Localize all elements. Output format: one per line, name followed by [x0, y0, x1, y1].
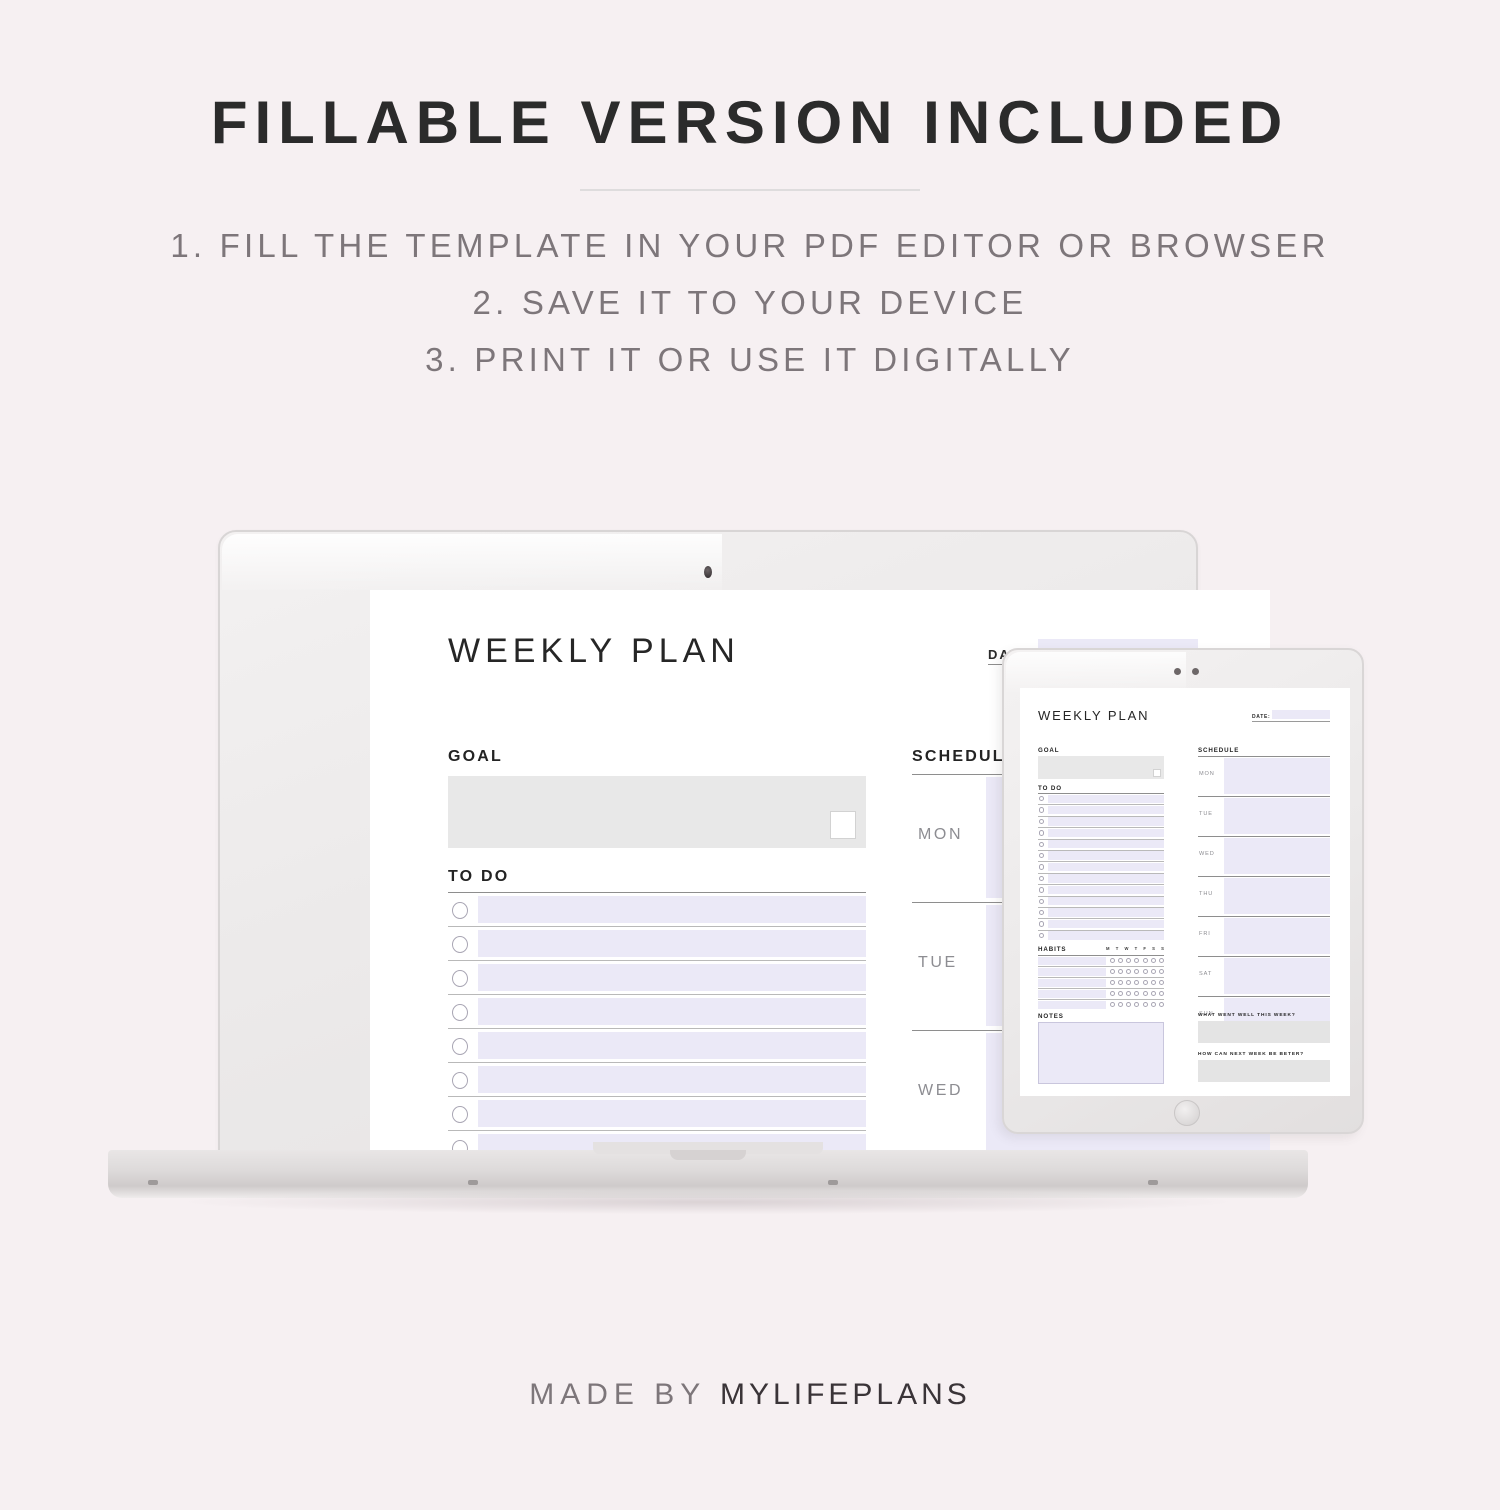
todo-input[interactable] [1048, 806, 1164, 814]
habit-day-w: W [1124, 946, 1128, 951]
todo-input[interactable] [478, 998, 866, 1025]
todo-checkbox-icon[interactable] [1039, 796, 1044, 801]
todo-input[interactable] [1048, 920, 1164, 928]
day-label-wed: WED [918, 1082, 963, 1100]
goal-heading: GOAL [1038, 747, 1059, 754]
habit-row[interactable] [1038, 999, 1164, 1010]
todo-row[interactable] [1038, 850, 1164, 861]
habit-check-icon[interactable] [1159, 958, 1164, 963]
todo-checkbox-icon[interactable] [452, 1038, 468, 1055]
todo-input[interactable] [1048, 931, 1164, 939]
todo-heading: TO DO [1038, 785, 1062, 792]
todo-checkbox-icon[interactable] [1039, 819, 1044, 824]
steps-list: 1. FILL THE TEMPLATE IN YOUR PDF EDITOR … [0, 217, 1500, 388]
habit-check-icon[interactable] [1159, 1002, 1164, 1007]
date-label: DATE: [1252, 714, 1270, 720]
habit-checks[interactable] [1110, 990, 1164, 998]
habit-day-s1: S [1152, 946, 1155, 951]
goal-checkbox[interactable] [830, 811, 856, 839]
todo-rule [448, 1130, 866, 1131]
step-item-2: 2. SAVE IT TO YOUR DEVICE [0, 274, 1500, 331]
goal-heading: GOAL [448, 748, 503, 766]
schedule-input-fri[interactable] [1224, 918, 1330, 954]
todo-list-laptop [448, 892, 866, 1158]
laptop-foot [148, 1180, 158, 1185]
habit-day-m: M [1106, 946, 1110, 951]
schedule-input-tue[interactable] [1224, 798, 1330, 834]
todo-row[interactable] [448, 960, 866, 994]
habit-checks[interactable] [1110, 957, 1164, 965]
todo-input[interactable] [1048, 840, 1164, 848]
todo-input[interactable] [1048, 863, 1164, 871]
habit-checks[interactable] [1110, 968, 1164, 976]
habit-check-icon[interactable] [1126, 969, 1131, 974]
habit-day-s2: S [1161, 946, 1164, 951]
habit-day-headers: M T W T F S S [1106, 946, 1164, 951]
goal-input[interactable] [1038, 756, 1164, 779]
reflection-q2-input[interactable] [1198, 1060, 1330, 1082]
habit-check-icon[interactable] [1134, 980, 1139, 985]
habit-row[interactable] [1038, 955, 1164, 966]
todo-input[interactable] [478, 1066, 866, 1093]
habit-check-icon[interactable] [1143, 991, 1148, 996]
brand-name: MYLIFEPLANS [720, 1378, 971, 1411]
habit-check-icon[interactable] [1126, 1002, 1131, 1007]
tablet-sheen [1006, 652, 1186, 692]
todo-rule [448, 1062, 866, 1063]
todo-row[interactable] [1038, 816, 1164, 827]
camera-icon [1174, 668, 1181, 675]
habit-checks[interactable] [1110, 979, 1164, 987]
habit-check-icon[interactable] [1134, 1002, 1139, 1007]
todo-input[interactable] [1048, 908, 1164, 916]
tablet-mockup: WEEKLY PLAN DATE: GOAL TO DO [1002, 648, 1372, 1143]
todo-input[interactable] [1048, 817, 1164, 825]
todo-heading: TO DO [448, 868, 509, 886]
schedule-rule [1198, 996, 1330, 997]
habit-check-icon[interactable] [1151, 958, 1156, 963]
todo-checkbox-icon[interactable] [452, 902, 468, 919]
habit-checks[interactable] [1110, 1001, 1164, 1009]
habit-check-icon[interactable] [1126, 958, 1131, 963]
todo-input[interactable] [478, 964, 866, 991]
todo-checkbox-icon[interactable] [1039, 876, 1044, 881]
todo-row[interactable] [448, 1096, 866, 1130]
laptop-foot [468, 1180, 478, 1185]
habit-check-icon[interactable] [1126, 991, 1131, 996]
sensor-icon [1192, 668, 1199, 675]
laptop-shadow [188, 1190, 1228, 1214]
habit-check-icon[interactable] [1143, 1002, 1148, 1007]
habit-check-icon[interactable] [1143, 969, 1148, 974]
todo-input[interactable] [1048, 829, 1164, 837]
day-label-fri: FRI [1199, 931, 1211, 937]
schedule-row-fri[interactable]: FRI [1198, 916, 1330, 956]
schedule-input-wed[interactable] [1224, 838, 1330, 874]
todo-row[interactable] [1038, 930, 1164, 941]
day-label-tue: TUE [1199, 811, 1213, 817]
habit-input[interactable] [1038, 979, 1106, 987]
todo-rule [448, 960, 866, 961]
todo-checkbox-icon[interactable] [452, 1106, 468, 1123]
todo-checkbox-icon[interactable] [1039, 899, 1044, 904]
schedule-rule [1198, 796, 1330, 797]
schedule-input-sat[interactable] [1224, 958, 1330, 994]
todo-row[interactable] [448, 994, 866, 1028]
todo-list-tablet [1038, 793, 1164, 941]
day-label-sat: SAT [1199, 971, 1212, 977]
goal-input[interactable] [448, 776, 866, 848]
day-label-mon: MON [1199, 771, 1215, 777]
habit-check-icon[interactable] [1118, 958, 1123, 963]
todo-checkbox-icon[interactable] [1039, 853, 1044, 858]
date-input[interactable] [1272, 710, 1330, 719]
todo-row[interactable] [448, 926, 866, 960]
todo-input[interactable] [478, 1100, 866, 1127]
habit-check-icon[interactable] [1126, 980, 1131, 985]
todo-input[interactable] [478, 1032, 866, 1059]
habit-check-icon[interactable] [1159, 991, 1164, 996]
habit-check-icon[interactable] [1134, 958, 1139, 963]
todo-row[interactable] [448, 1028, 866, 1062]
schedule-rule [1198, 836, 1330, 837]
habit-check-icon[interactable] [1118, 969, 1123, 974]
habit-check-icon[interactable] [1118, 991, 1123, 996]
laptop-foot [1148, 1180, 1158, 1185]
day-label-tue: TUE [918, 954, 958, 972]
todo-checkbox-icon[interactable] [1039, 887, 1044, 892]
todo-row[interactable] [1038, 884, 1164, 895]
habit-check-icon[interactable] [1118, 1002, 1123, 1007]
schedule-row-sat[interactable]: SAT [1198, 956, 1330, 996]
todo-input[interactable] [478, 896, 866, 923]
habit-check-icon[interactable] [1159, 969, 1164, 974]
habit-check-icon[interactable] [1118, 980, 1123, 985]
habit-input[interactable] [1038, 990, 1106, 998]
day-label-thu: THU [1199, 891, 1213, 897]
todo-rule [448, 1096, 866, 1097]
reflection-q1-input[interactable] [1198, 1021, 1330, 1043]
habit-input[interactable] [1038, 957, 1106, 965]
todo-rule [448, 1028, 866, 1029]
planner-tablet: WEEKLY PLAN DATE: GOAL TO DO [1020, 688, 1350, 1096]
schedule-input-thu[interactable] [1224, 878, 1330, 914]
todo-checkbox-icon[interactable] [452, 970, 468, 987]
todo-checkbox-icon[interactable] [452, 1004, 468, 1021]
footer: MADE BY MYLIFEPLANS [0, 1378, 1500, 1412]
made-by-label: MADE BY [529, 1378, 720, 1411]
todo-checkbox-icon[interactable] [1039, 842, 1044, 847]
habit-check-icon[interactable] [1110, 1002, 1115, 1007]
habit-check-icon[interactable] [1110, 980, 1115, 985]
notes-heading: NOTES [1038, 1013, 1064, 1020]
todo-row[interactable] [448, 1062, 866, 1096]
webcam-icon [704, 566, 712, 578]
habit-check-icon[interactable] [1151, 991, 1156, 996]
schedule-heading: SCHEDULE [1198, 747, 1239, 754]
todo-rule [448, 994, 866, 995]
date-rule [1252, 721, 1330, 722]
habits-heading: HABITS [1038, 946, 1066, 953]
habit-day-t1: T [1116, 946, 1119, 951]
habit-check-icon[interactable] [1143, 980, 1148, 985]
day-label-mon: MON [918, 826, 963, 844]
todo-rule [448, 926, 866, 927]
goal-checkbox[interactable] [1153, 769, 1161, 777]
poster-canvas: FILLABLE VERSION INCLUDED 1. FILL THE TE… [0, 0, 1500, 1510]
habit-check-icon[interactable] [1110, 969, 1115, 974]
tablet-screen: WEEKLY PLAN DATE: GOAL TO DO [1020, 688, 1350, 1096]
habit-check-icon[interactable] [1151, 1002, 1156, 1007]
tablet-home-button[interactable] [1174, 1100, 1200, 1126]
todo-input[interactable] [478, 930, 866, 957]
todo-row[interactable] [1038, 861, 1164, 872]
habits-list [1038, 955, 1164, 1010]
header: FILLABLE VERSION INCLUDED 1. FILL THE TE… [0, 0, 1500, 388]
todo-input[interactable] [1048, 795, 1164, 803]
todo-row[interactable] [1038, 918, 1164, 929]
habit-row[interactable] [1038, 988, 1164, 999]
todo-checkbox-icon[interactable] [452, 1072, 468, 1089]
todo-row[interactable] [1038, 873, 1164, 884]
habit-check-icon[interactable] [1110, 958, 1115, 963]
todo-checkbox-icon[interactable] [1039, 910, 1044, 915]
schedule-row-wed[interactable]: WED [1198, 836, 1330, 876]
todo-checkbox-icon[interactable] [452, 936, 468, 953]
reflection-q2-label: HOW CAN NEXT WEEK BE BETER? [1198, 1052, 1304, 1057]
todo-rule [448, 892, 866, 893]
todo-checkbox-icon[interactable] [1039, 921, 1044, 926]
todo-row[interactable] [1038, 827, 1164, 838]
schedule-rule [1198, 756, 1330, 757]
todo-input[interactable] [1048, 874, 1164, 882]
schedule-rule [1198, 956, 1330, 957]
laptop-foot [828, 1180, 838, 1185]
schedule-row-tue[interactable]: TUE [1198, 796, 1330, 836]
schedule-rule [1198, 916, 1330, 917]
laptop-base-notch [670, 1150, 746, 1160]
habit-check-icon[interactable] [1159, 980, 1164, 985]
todo-input[interactable] [1048, 897, 1164, 905]
reflection-q1-label: WHAT WENT WELL THIS WEEK? [1198, 1013, 1296, 1018]
habit-check-icon[interactable] [1134, 991, 1139, 996]
todo-row[interactable] [1038, 804, 1164, 815]
schedule-row-thu[interactable]: THU [1198, 876, 1330, 916]
step-item-1: 1. FILL THE TEMPLATE IN YOUR PDF EDITOR … [0, 217, 1500, 274]
tablet-body: WEEKLY PLAN DATE: GOAL TO DO [1002, 648, 1364, 1134]
todo-row[interactable] [1038, 907, 1164, 918]
todo-input[interactable] [1048, 851, 1164, 859]
day-label-wed: WED [1199, 851, 1215, 857]
todo-row[interactable] [1038, 793, 1164, 804]
todo-input[interactable] [1048, 886, 1164, 894]
schedule-input-mon[interactable] [1224, 758, 1330, 794]
page-title: FILLABLE VERSION INCLUDED [0, 88, 1500, 157]
todo-checkbox-icon[interactable] [1039, 830, 1044, 835]
habit-check-icon[interactable] [1151, 980, 1156, 985]
todo-row[interactable] [1038, 839, 1164, 850]
habit-check-icon[interactable] [1134, 969, 1139, 974]
todo-row[interactable] [1038, 896, 1164, 907]
lid-sheen [222, 534, 722, 590]
schedule-row-mon[interactable]: MON [1198, 756, 1330, 796]
habit-input[interactable] [1038, 1001, 1106, 1009]
title-divider [580, 189, 920, 191]
notes-input[interactable] [1038, 1022, 1164, 1084]
todo-row[interactable] [448, 892, 866, 926]
step-item-3: 3. PRINT IT OR USE IT DIGITALLY [0, 331, 1500, 388]
habit-input[interactable] [1038, 968, 1106, 976]
habit-check-icon[interactable] [1151, 969, 1156, 974]
schedule-list-tablet: MON TUE WED THU FRI SAT SUN [1198, 756, 1330, 1036]
habit-check-icon[interactable] [1110, 991, 1115, 996]
todo-checkbox-icon[interactable] [1039, 807, 1044, 812]
habit-row[interactable] [1038, 977, 1164, 988]
habit-day-f: F [1143, 946, 1146, 951]
schedule-rule [1198, 876, 1330, 877]
habit-check-icon[interactable] [1143, 958, 1148, 963]
todo-checkbox-icon[interactable] [1039, 933, 1044, 938]
habit-row[interactable] [1038, 966, 1164, 977]
habit-day-t2: T [1135, 946, 1138, 951]
planner-title: WEEKLY PLAN [1038, 708, 1149, 723]
todo-checkbox-icon[interactable] [1039, 864, 1044, 869]
planner-title: WEEKLY PLAN [448, 632, 740, 671]
